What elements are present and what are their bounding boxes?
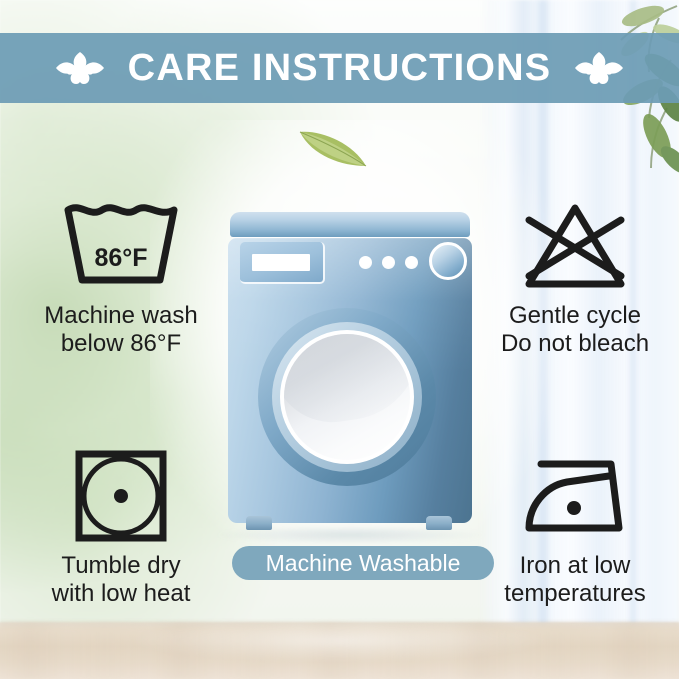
machine-washable-badge: Machine Washable [232, 546, 494, 580]
do-not-bleach-icon-wrap [521, 196, 629, 296]
symbol-tumble-dry: Tumble dry with low heat [6, 446, 236, 608]
fleur-de-lis-left-icon [54, 46, 106, 90]
control-button-3 [405, 256, 418, 269]
washer-door-glass-highlight [284, 334, 410, 430]
symbol-label-iron: Iron at low temperatures [504, 552, 645, 608]
machine-top-panel [230, 212, 470, 237]
machine-foot-left [246, 516, 272, 530]
washer-door-glass [284, 334, 410, 460]
tumble-dry-icon-wrap [73, 446, 169, 546]
tumble-dry-low-icon [73, 448, 169, 544]
control-button-1 [359, 256, 372, 269]
floating-leaf-icon [296, 122, 370, 170]
detergent-drawer-slot [252, 254, 310, 271]
page-title: CARE INSTRUCTIONS [128, 49, 552, 87]
do-not-bleach-triangle-icon [521, 200, 629, 292]
front-load-washing-machine [228, 210, 472, 535]
symbol-label-machine-wash: Machine wash below 86°F [44, 302, 197, 358]
control-button-2 [382, 256, 395, 269]
wash-tub-icon-wrap: 86°F [62, 196, 180, 296]
control-knob [429, 242, 467, 280]
detergent-drawer [240, 242, 325, 284]
symbol-gentle-cycle-no-bleach: Gentle cycle Do not bleach [470, 196, 679, 358]
machine-washable-badge-label: Machine Washable [266, 552, 461, 575]
wood-surface-highlight [130, 621, 550, 661]
symbol-iron-low: Iron at low temperatures [470, 446, 679, 608]
iron-icon-wrap [519, 446, 631, 546]
iron-low-heat-icon [519, 454, 631, 538]
care-instructions-infographic: CARE INSTRUCTIONS 86°F Machine wash belo… [0, 0, 679, 679]
symbol-label-tumble-dry: Tumble dry with low heat [52, 552, 191, 608]
header-banner: CARE INSTRUCTIONS [0, 33, 679, 103]
fleur-de-lis-right-icon [573, 46, 625, 90]
machine-foot-right [426, 516, 452, 530]
symbol-label-gentle-cycle: Gentle cycle Do not bleach [501, 302, 649, 358]
wash-temperature-value: 86°F [62, 244, 180, 273]
symbol-machine-wash: 86°F Machine wash below 86°F [6, 196, 236, 358]
